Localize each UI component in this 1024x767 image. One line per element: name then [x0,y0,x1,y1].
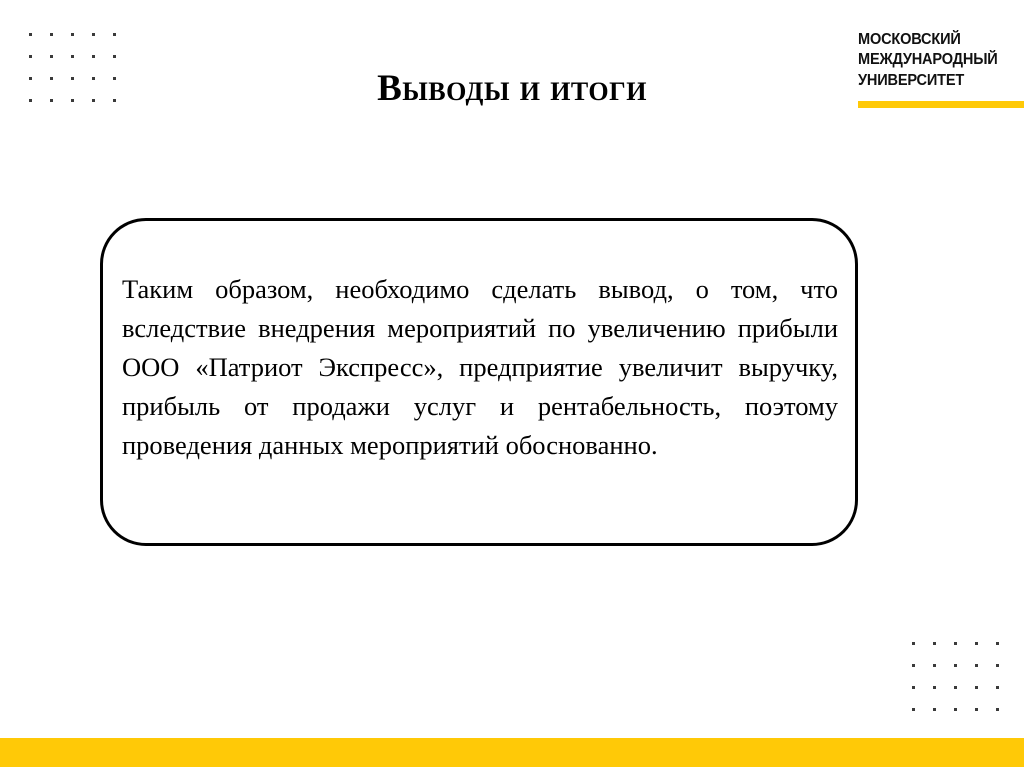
decorative-dot [71,55,74,58]
decorative-dot [933,664,936,667]
decorative-dot [954,686,957,689]
decorative-dot [975,642,978,645]
decorative-dot [996,642,999,645]
decorative-dot [113,33,116,36]
decorative-dot [912,708,915,711]
university-logo: МОСКОВСКИЙ МЕЖДУНАРОДНЫЙ УНИВЕРСИТЕТ [858,30,1024,91]
decorative-dot [912,642,915,645]
decorative-dot [975,664,978,667]
decorative-dot [954,642,957,645]
presentation-slide: Выводы и итоги МОСКОВСКИЙ МЕЖДУНАРОДНЫЙ … [0,0,1024,767]
logo-line-3: УНИВЕРСИТЕТ [858,71,1014,91]
decorative-dot [912,686,915,689]
decorative-dot [50,55,53,58]
logo-line-1: МОСКОВСКИЙ [858,30,1014,50]
decorative-dot [975,708,978,711]
decorative-dot [71,33,74,36]
decorative-dot [92,33,95,36]
decorative-dot [92,55,95,58]
conclusion-paragraph: Таким образом, необходимо сделать вывод,… [122,270,838,465]
decorative-dot [933,708,936,711]
decorative-dot [933,642,936,645]
decorative-dot [50,33,53,36]
decorative-dot [29,55,32,58]
decorative-dot [113,55,116,58]
decorative-dot [933,686,936,689]
logo-line-2: МЕЖДУНАРОДНЫЙ [858,50,1014,70]
decorative-dot [954,708,957,711]
conclusion-text-box: Таким образом, необходимо сделать вывод,… [100,218,858,546]
decorative-dot [996,664,999,667]
footer-accent-band [0,738,1024,767]
decorative-dot [996,708,999,711]
decorative-dot-grid-bottom-right [912,642,1017,730]
logo-underline-rule [858,101,1024,108]
decorative-dot [975,686,978,689]
decorative-dot [954,664,957,667]
decorative-dot [996,686,999,689]
decorative-dot [29,33,32,36]
decorative-dot [912,664,915,667]
